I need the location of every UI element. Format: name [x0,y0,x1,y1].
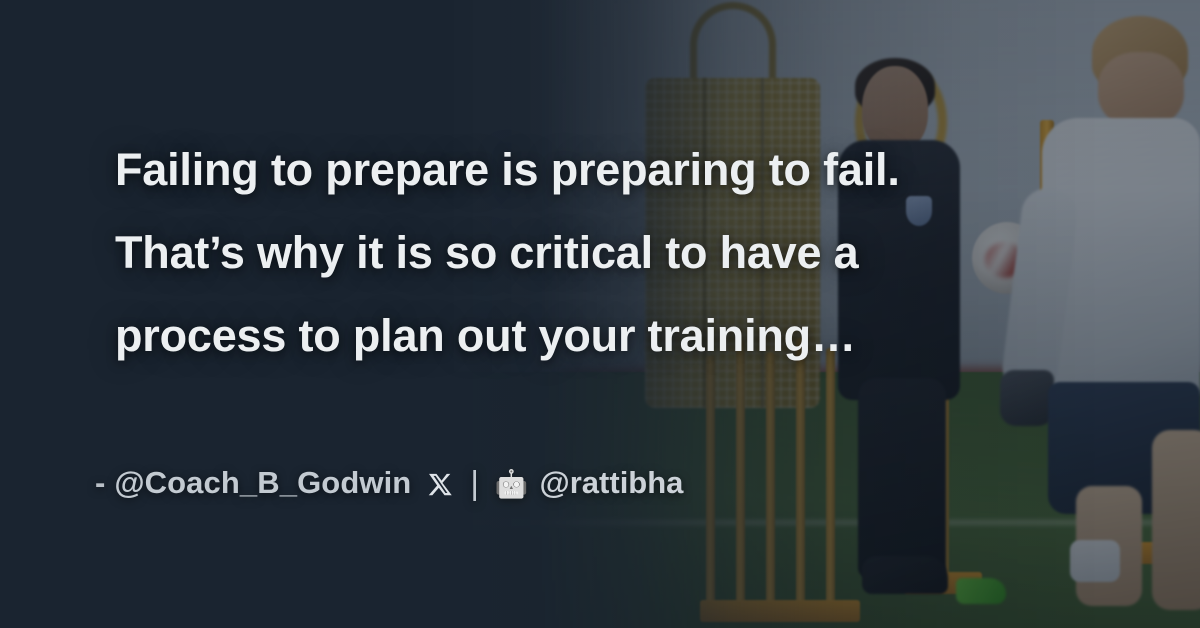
quote-line-3: process to plan out your training… [115,294,1105,377]
author-handle[interactable]: @Coach_B_Godwin [114,465,411,501]
attribution-dash: - [95,465,105,501]
quote-line-2: That’s why it is so critical to have a [115,211,1105,294]
card-content: Failing to prepare is preparing to fail.… [115,0,1125,628]
attribution: - @Coach_B_Godwin | 🤖 @rattibha [95,464,683,502]
quote-card: Failing to prepare is preparing to fail.… [0,0,1200,628]
quote-text: Failing to prepare is preparing to fail.… [115,128,1105,377]
robot-icon: 🤖 [495,468,529,500]
x-twitter-icon[interactable] [427,471,454,498]
attribution-separator: | [470,464,479,502]
quote-line-1: Failing to prepare is preparing to fail. [115,128,1105,211]
brand-handle[interactable]: @rattibha [540,465,684,501]
